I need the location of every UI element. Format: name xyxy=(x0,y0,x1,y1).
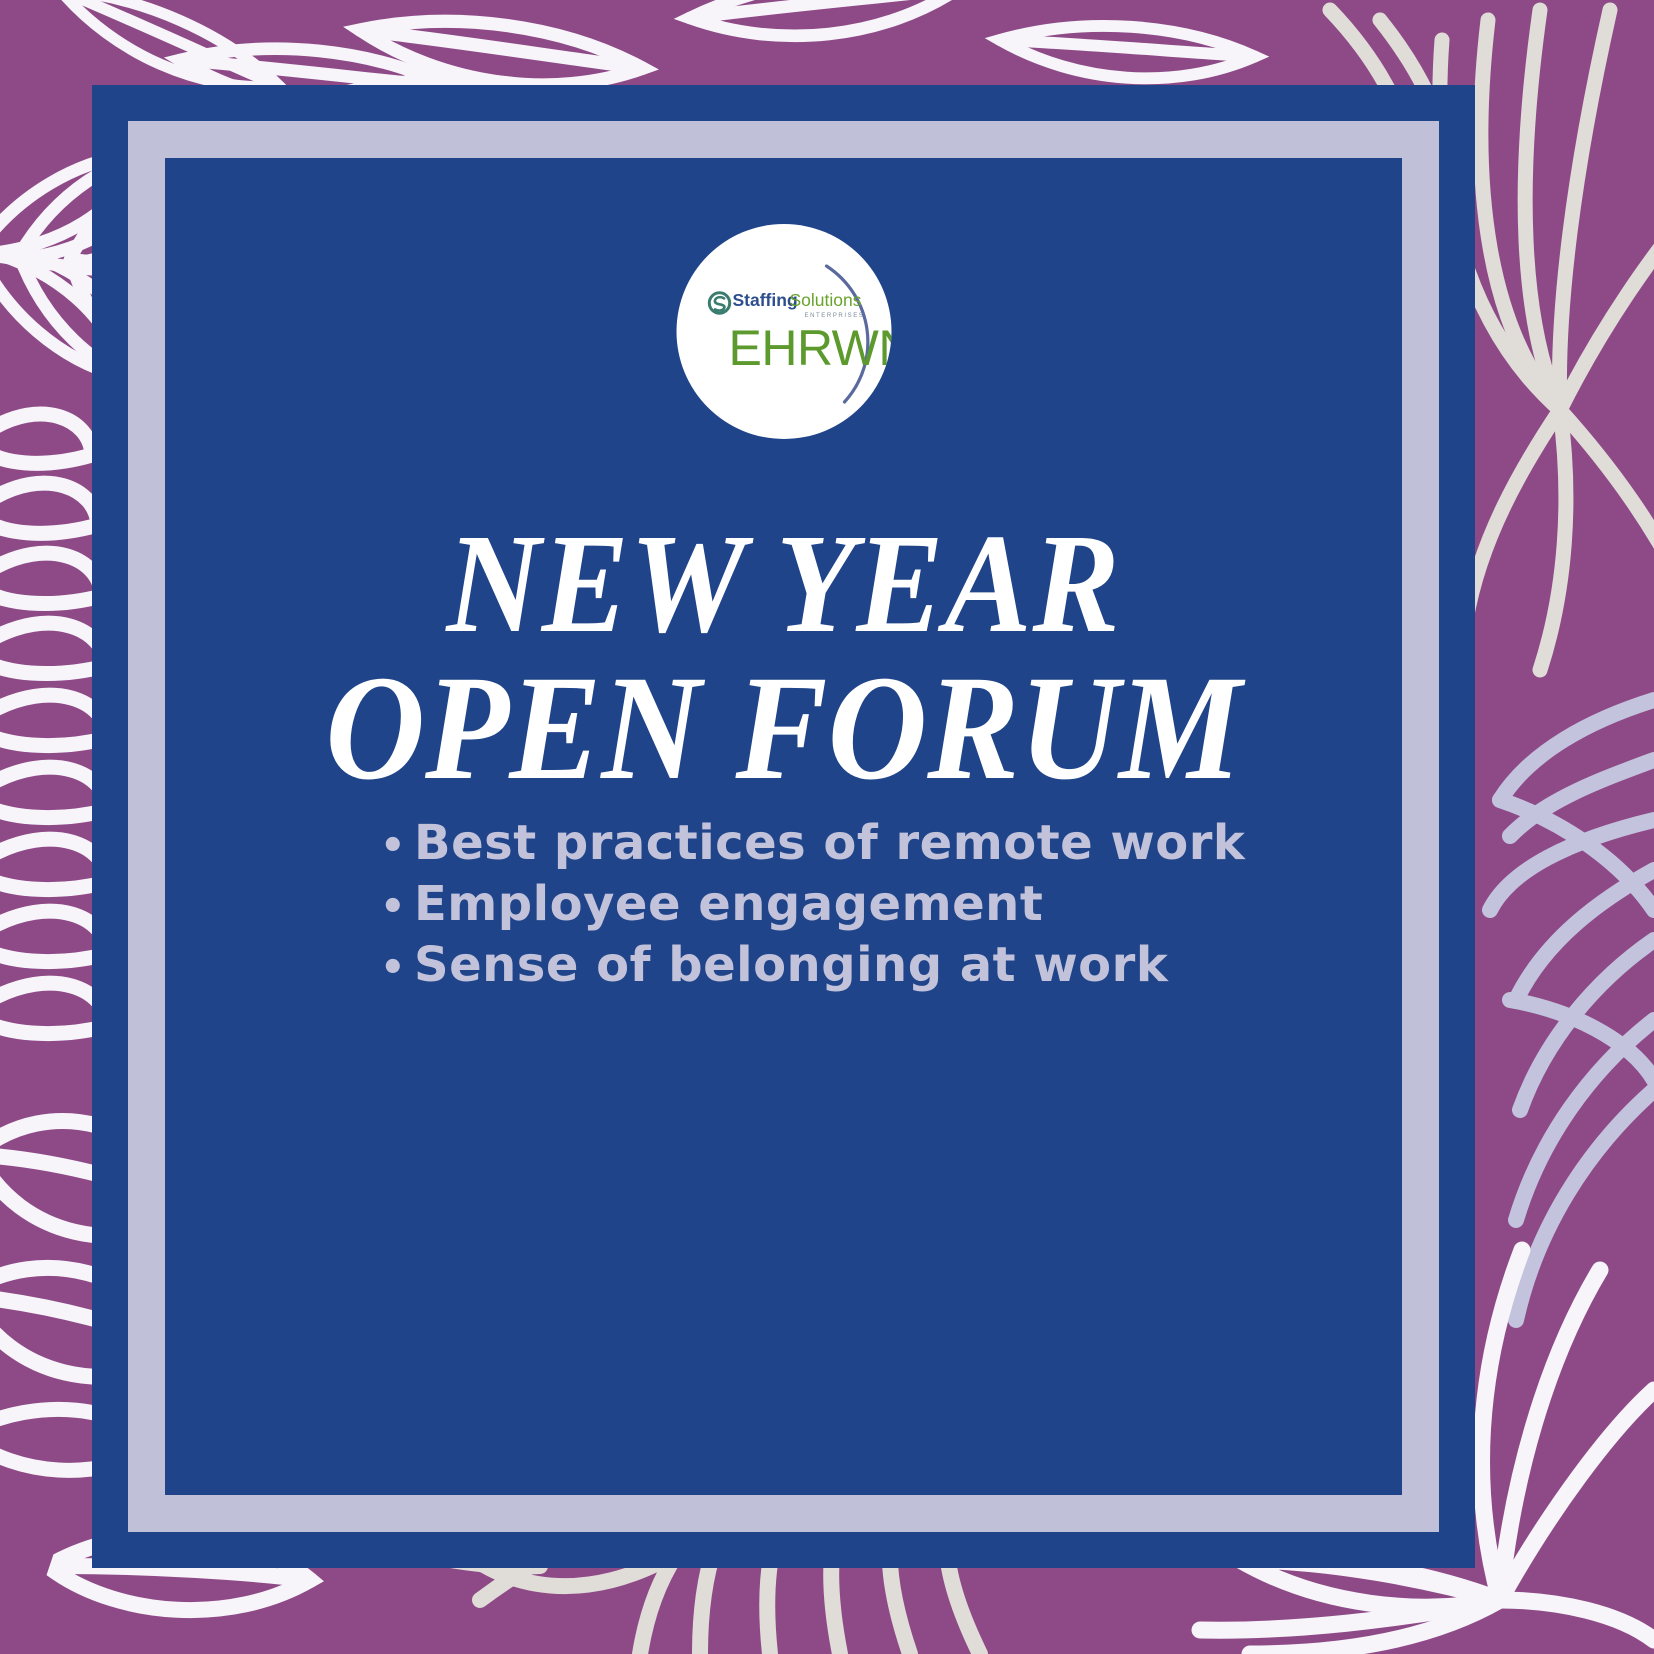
list-item-label: Best practices of remote work xyxy=(414,813,1245,874)
svg-text:Solutions: Solutions xyxy=(789,290,861,310)
headline-line-2: OPEN FORUM xyxy=(214,654,1352,803)
list-item-label: Employee engagement xyxy=(414,874,1043,935)
list-item: • Employee engagement xyxy=(380,874,1245,935)
svg-text:Staffing: Staffing xyxy=(732,290,797,310)
company-logo-badge: Staffing Solutions ENTERPRISES EHRWN xyxy=(676,224,891,439)
list-item-label: Sense of belonging at work xyxy=(414,935,1168,996)
headline-line-1: NEW YEAR xyxy=(214,513,1352,654)
bullet-dot-icon: • xyxy=(380,826,414,866)
content-area: Staffing Solutions ENTERPRISES EHRWN NEW… xyxy=(165,158,1402,1495)
topics-list: • Best practices of remote work • Employ… xyxy=(380,813,1245,996)
bullet-dot-icon: • xyxy=(380,887,414,927)
list-item: • Sense of belonging at work xyxy=(380,935,1245,996)
page-title: NEW YEAR OPEN FORUM xyxy=(214,513,1352,802)
poster-canvas: Staffing Solutions ENTERPRISES EHRWN NEW… xyxy=(0,0,1654,1654)
svg-text:ENTERPRISES: ENTERPRISES xyxy=(804,313,864,319)
bullet-dot-icon: • xyxy=(380,948,414,988)
list-item: • Best practices of remote work xyxy=(380,813,1245,874)
svg-text:EHRWN: EHRWN xyxy=(728,320,891,376)
logo-artwork: Staffing Solutions ENTERPRISES EHRWN xyxy=(676,224,891,439)
